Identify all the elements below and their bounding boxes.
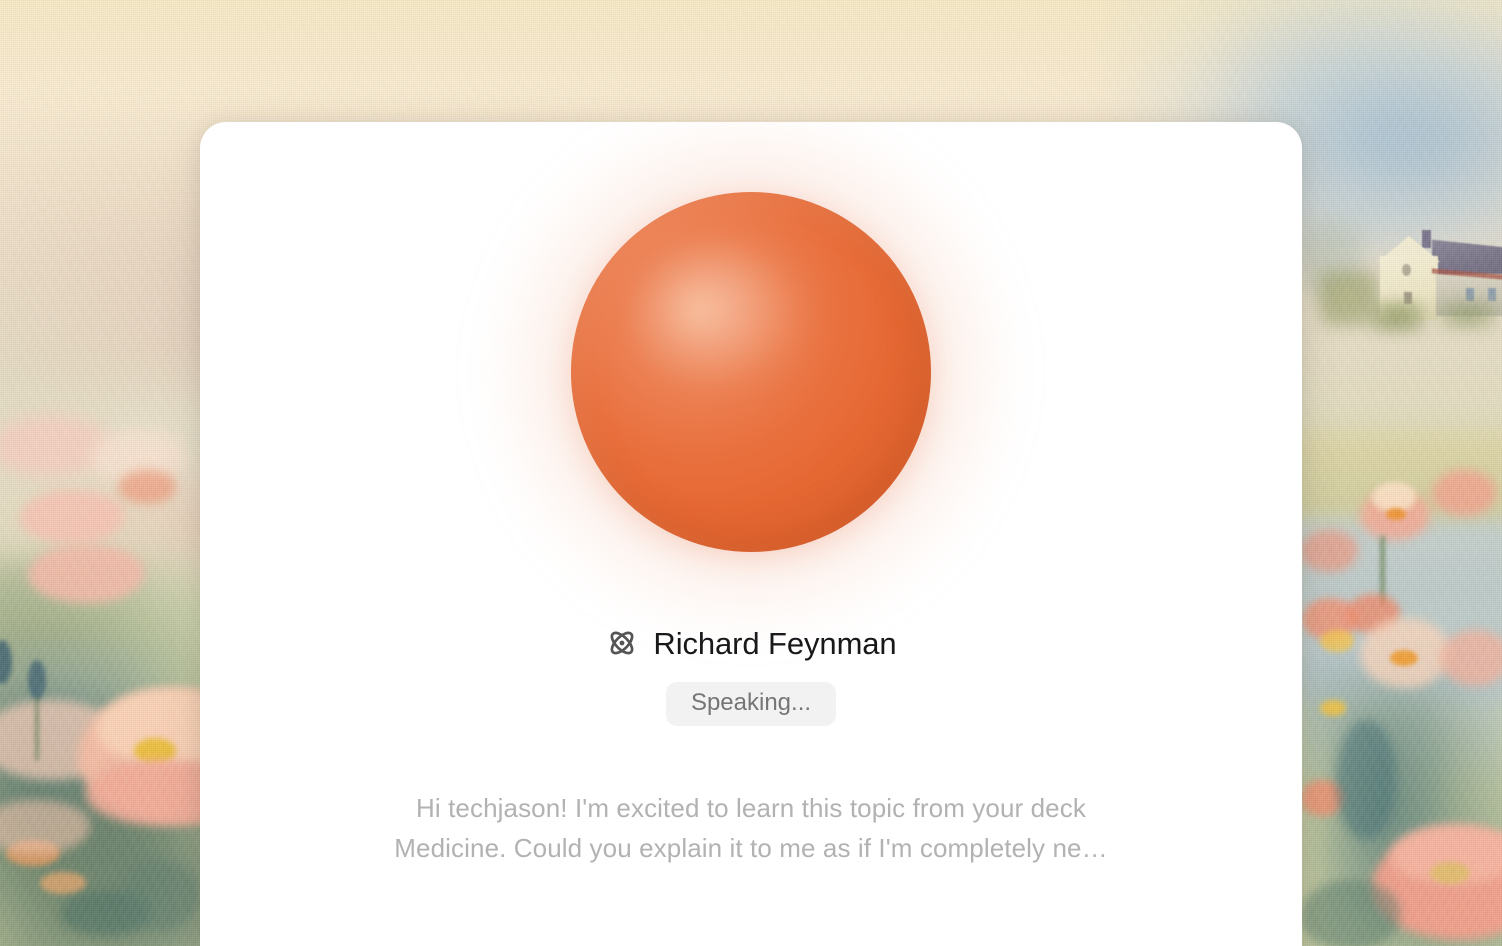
app-root: Richard Feynman Speaking... Hi techjason… [0, 0, 1502, 946]
painting-shrub-1 [1370, 300, 1426, 334]
atom-icon [605, 626, 639, 660]
orb-container [471, 122, 1031, 622]
status-badge: Speaking... [666, 682, 836, 726]
painting-flower-blossom [20, 490, 124, 544]
painting-leaf-dab [1300, 880, 1400, 946]
painting-tulip-center [1386, 508, 1406, 520]
painting-flower-blossom [28, 545, 144, 603]
session-card: Richard Feynman Speaking... Hi techjason… [200, 122, 1302, 946]
transcript-text: Hi techjason! I'm excited to learn this … [391, 788, 1111, 868]
speaking-orb[interactable] [571, 192, 931, 552]
painting-shrub-2 [1438, 300, 1498, 330]
painting-poppy-center [1430, 862, 1470, 884]
painting-petal-dab [1320, 700, 1346, 716]
painting-tulip [1432, 470, 1496, 516]
painting-flower-blossom [118, 470, 176, 504]
painting-flower-bud [28, 660, 46, 700]
farmhouse-window-gable [1402, 264, 1411, 276]
persona-identity: Richard Feynman [605, 626, 896, 660]
painting-flower-center [1390, 650, 1418, 666]
painting-leaf-dab [1336, 720, 1396, 840]
painting-stem [35, 698, 39, 760]
painting-petal-dab [1320, 630, 1354, 652]
painting-tulip [1300, 530, 1358, 572]
painting-leaf-dab [120, 860, 200, 930]
persona-name: Richard Feynman [653, 628, 896, 659]
painting-flower-blossom [1440, 630, 1502, 686]
orb-highlight [643, 250, 801, 380]
painting-petal-dab [40, 872, 86, 894]
